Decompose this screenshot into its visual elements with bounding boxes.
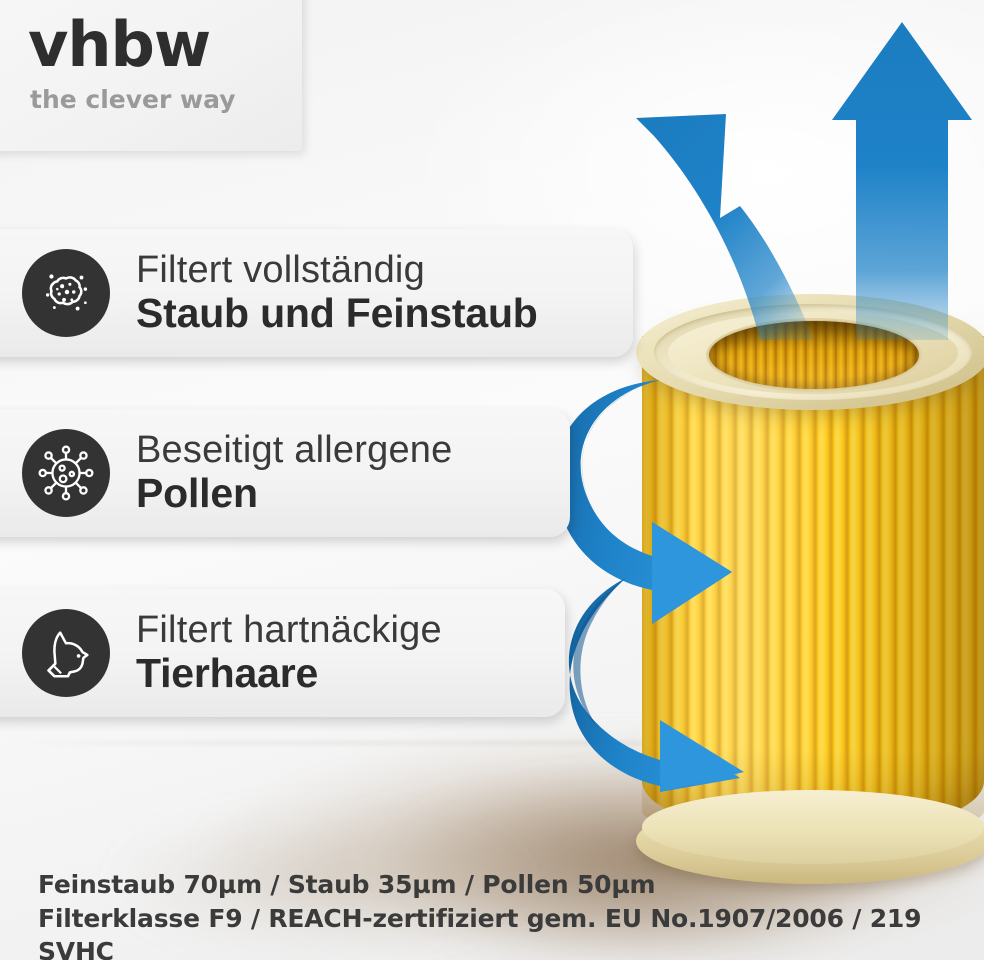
- spec-line-particles: Feinstaub 70µm / Staub 35µm / Pollen 50µ…: [38, 868, 984, 902]
- feature-badge-text: Beseitigt allergene Pollen: [136, 430, 452, 516]
- feature-badge-text: Filtert vollständig Staub und Feinstaub: [136, 250, 538, 336]
- specification-text: Feinstaub 70µm / Staub 35µm / Pollen 50µ…: [38, 868, 984, 960]
- feature-line-bold: Tierhaare: [136, 651, 442, 696]
- feature-badge-pet-hair: Filtert hartnäckige Tierhaare: [0, 589, 565, 717]
- arrow-up-curved: [636, 114, 814, 340]
- brand-tagline: the clever way: [30, 87, 236, 112]
- pollen-icon: [22, 429, 110, 517]
- airflow-arrows-outlet: [600, 10, 984, 340]
- feature-line-bold: Pollen: [136, 471, 452, 516]
- feature-line-light: Filtert vollständig: [136, 250, 538, 290]
- arrow-inlet-heads: [652, 522, 744, 792]
- feature-line-light: Beseitigt allergene: [136, 430, 452, 470]
- arrow-up-straight: [832, 22, 972, 340]
- dog-head-icon: [22, 609, 110, 697]
- filter-base-ring-top: [642, 790, 984, 864]
- dust-cloud-icon: [22, 249, 110, 337]
- product-marketing-image: vhbw the clever way: [0, 0, 984, 960]
- brand-logo-panel: vhbw the clever way: [0, 0, 302, 151]
- spec-line-certification: Filterklasse F9 / REACH-zertifiziert gem…: [38, 902, 984, 960]
- feature-badge-dust: Filtert vollständig Staub und Feinstaub: [0, 229, 633, 357]
- brand-wordmark: vhbw: [28, 14, 210, 76]
- feature-line-light: Filtert hartnäckige: [136, 610, 442, 650]
- feature-badge-pollen: Beseitigt allergene Pollen: [0, 409, 570, 537]
- feature-line-bold: Staub und Feinstaub: [136, 291, 538, 336]
- feature-badge-text: Filtert hartnäckige Tierhaare: [136, 610, 442, 696]
- airflow-arrows-inlet: [556, 372, 856, 792]
